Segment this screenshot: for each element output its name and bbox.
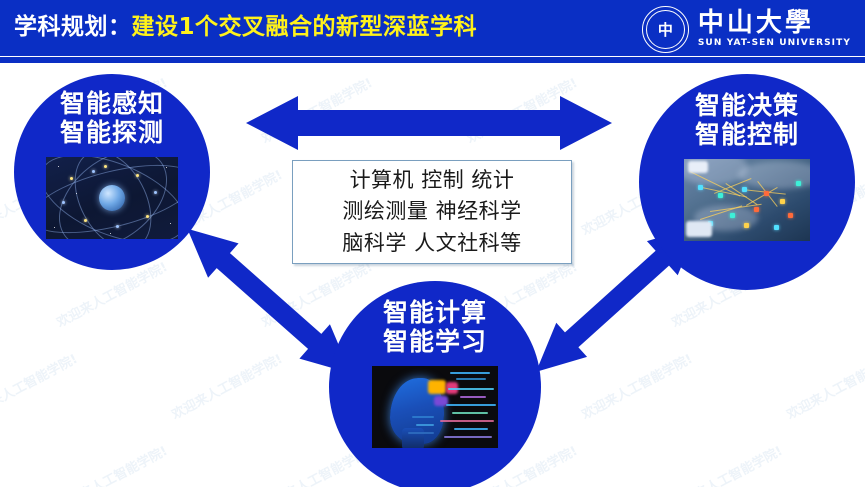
disciplines-box: 计算机 控制 统计 测绘测量 神经科学 脑科学 人文社科等 (292, 160, 572, 264)
slide-canvas: 欢迎来人工智能学院!欢迎来人工智能学院!欢迎来人工智能学院!欢迎来人工智能学院!… (0, 0, 865, 487)
logo-text: 中山大學 SUN YAT-SEN UNIVERSITY (698, 10, 851, 48)
logo-name-en: SUN YAT-SEN UNIVERSITY (698, 39, 851, 48)
watermark-text: 欢迎来人工智能学院! (783, 348, 865, 422)
node-computing-line2: 智能学习 (383, 328, 487, 357)
header-divider (0, 56, 865, 63)
node-decision-thumbnail (684, 159, 810, 241)
node-computing-line1: 智能计算 (383, 299, 487, 328)
node-decision-line1: 智能决策 (695, 92, 799, 121)
node-computing[interactable]: 智能计算 智能学习 (329, 281, 541, 487)
page-title-accent: 建设1个交叉融合的新型深蓝学科 (132, 14, 478, 40)
node-decision-line2: 智能控制 (695, 121, 799, 150)
node-perception-line2: 智能探测 (60, 119, 164, 148)
arrow-perception-decision (246, 96, 612, 150)
page-title-prefix: 学科规划： (14, 14, 132, 40)
logo-name-cn: 中山大學 (698, 10, 851, 36)
discipline-line-3: 脑科学 人文社科等 (342, 228, 521, 259)
watermark-text: 欢迎来人工智能学院! (53, 440, 170, 487)
discipline-line-2: 测绘测量 神经科学 (342, 196, 521, 227)
node-perception-line1: 智能感知 (60, 90, 164, 119)
node-decision[interactable]: 智能决策 智能控制 (639, 74, 855, 290)
node-perception[interactable]: 智能感知 智能探测 (14, 74, 210, 270)
university-seal-icon: 中 (642, 6, 689, 53)
node-perception-thumbnail (46, 157, 178, 239)
seal-glyph: 中 (643, 7, 688, 52)
node-decision-label: 智能决策 智能控制 (695, 92, 799, 149)
node-computing-label: 智能计算 智能学习 (383, 299, 487, 356)
watermark-text: 欢迎来人工智能学院! (668, 440, 785, 487)
page-title: 学科规划：建设1个交叉融合的新型深蓝学科 (14, 11, 477, 43)
discipline-line-1: 计算机 控制 统计 (350, 165, 515, 196)
node-computing-thumbnail (372, 366, 498, 448)
watermark-text: 欢迎来人工智能学院! (0, 348, 80, 422)
node-perception-label: 智能感知 智能探测 (60, 90, 164, 147)
university-logo: 中 中山大學 SUN YAT-SEN UNIVERSITY (642, 4, 851, 54)
